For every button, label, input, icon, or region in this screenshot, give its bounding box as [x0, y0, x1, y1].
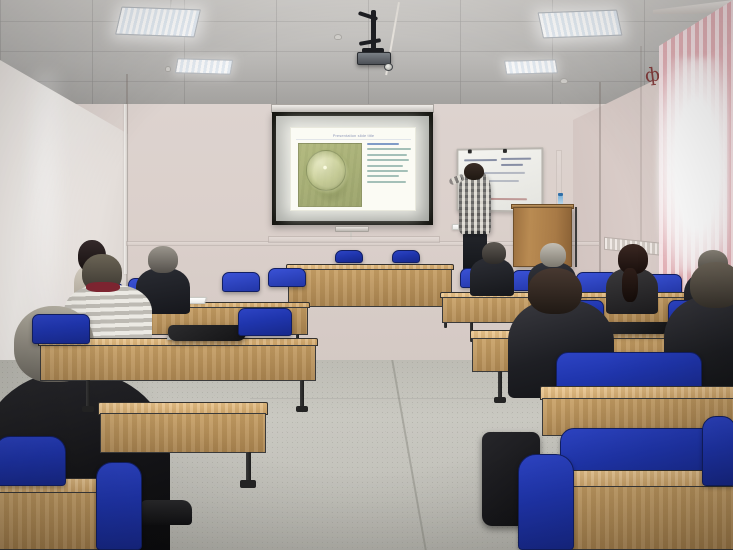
smoke-detector-left [334, 34, 342, 40]
attendee-right-woman-hair [622, 268, 638, 302]
microphone-stand [575, 207, 577, 267]
laptop-bag [168, 325, 246, 341]
whiteboard-writing [501, 164, 523, 166]
desk-leg [86, 380, 90, 408]
projector-lens [384, 63, 393, 71]
attendee-foreground-left-shoe [140, 500, 192, 525]
chair-foreground-left-blue-armrest[interactable] [96, 462, 142, 550]
desk-foreground-left-upper-front [100, 413, 266, 453]
wall-corner-right [599, 82, 601, 302]
chair-mid-left-2[interactable] [238, 308, 292, 336]
whiteboard-clip [503, 149, 507, 153]
presenter-torso-plaid-shirt [459, 172, 491, 234]
slide-bullet [367, 175, 399, 177]
slide-bullet-list [367, 143, 413, 186]
desk-foot [82, 406, 94, 412]
light-panel-mid-right [504, 59, 558, 74]
desk-mid-left-front [40, 345, 316, 381]
projection-screen-pull-handle[interactable] [335, 226, 369, 232]
wall-conduit-pipe [124, 104, 127, 274]
presenter-table-front [288, 269, 452, 307]
desk-foreground-left-front [0, 492, 98, 550]
window-daylight-glare [657, 58, 729, 272]
chair-back-left-3[interactable] [222, 272, 260, 292]
whiteboard-writing [501, 158, 531, 160]
chair-mid-left-1[interactable] [32, 314, 90, 344]
slide-bullet [367, 165, 403, 167]
light-panel-mid-left [175, 58, 233, 74]
slide-image-droplet [298, 143, 362, 207]
attendee-front-center-head [482, 242, 506, 264]
chair-back-left-4[interactable] [268, 268, 306, 287]
chair-foreground-mid[interactable] [518, 454, 574, 550]
lecture-hall-photo: ф Presentation slide title [0, 0, 733, 550]
slide-bullet [367, 181, 406, 183]
slide-bullet [367, 143, 399, 145]
presenter-head [464, 163, 484, 180]
slide-bullet [367, 154, 407, 156]
front-chair-right[interactable] [392, 250, 420, 263]
light-panel-front-right [538, 10, 623, 39]
front-chair-left[interactable] [335, 250, 363, 263]
slide-bullet [367, 170, 408, 172]
attendee-right-suit-2-head [690, 262, 733, 308]
projected-slide: Presentation slide title [290, 127, 416, 211]
slide-bullet [367, 159, 409, 161]
smoke-detector-left-wall [165, 66, 171, 72]
projection-screen-surface: Presentation slide title [276, 116, 429, 221]
attendee-striped-shirt-collar [86, 282, 120, 292]
chair-right-edge-foreground[interactable] [702, 416, 733, 486]
desk-foot [296, 406, 308, 412]
whiteboard-writing-red [487, 198, 527, 200]
whiteboard-writing [464, 159, 497, 161]
chair-foreground-left[interactable] [0, 436, 66, 486]
floor-seam-front [250, 398, 500, 399]
presenter-hand-item [452, 224, 459, 230]
light-panel-front-left [115, 7, 201, 38]
desk-leg [300, 380, 304, 408]
smoke-detector-right [560, 78, 568, 84]
desk-foreground-right-lower-front [550, 486, 733, 550]
whiteboard-clip [468, 149, 472, 153]
screen-lower-wall-strip [268, 236, 440, 243]
slide-bullet [367, 148, 411, 150]
desk-foot [240, 480, 256, 488]
attendee-left-dark-head [148, 246, 178, 273]
desk-leg [498, 371, 502, 399]
projection-screen: Presentation slide title [272, 112, 433, 225]
desk-foot [494, 397, 506, 403]
attendee-center-grey-head [540, 243, 566, 267]
attendee-right-suit-1-head [528, 268, 582, 314]
slide-title: Presentation slide title [296, 131, 411, 140]
